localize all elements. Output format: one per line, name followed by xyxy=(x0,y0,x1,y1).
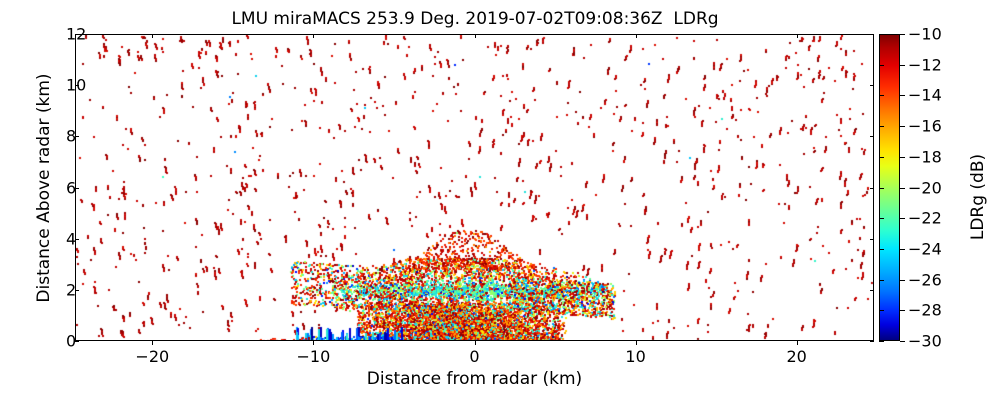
y-tick-mark-right xyxy=(870,136,874,137)
colorbar-tick-mark-inner xyxy=(879,341,884,342)
x-axis-label: Distance from radar (km) xyxy=(75,369,874,389)
colorbar-tick-mark xyxy=(900,34,905,35)
colorbar-tick-mark xyxy=(900,341,905,342)
colorbar-tick-label: −20 xyxy=(908,178,942,197)
figure-canvas: LMU miraMACS 253.9 Deg. 2019-07-02T09:08… xyxy=(0,0,1000,400)
plot-axes-area[interactable] xyxy=(75,34,874,341)
x-tick-label: 10 xyxy=(625,347,645,366)
colorbar-tick-mark xyxy=(900,157,905,158)
colorbar-tick-mark-inner xyxy=(879,126,884,127)
x-tick-label: 0 xyxy=(469,347,479,366)
colorbar-tick-mark xyxy=(900,126,905,127)
y-tick-mark-right xyxy=(870,34,874,35)
colorbar-tick-mark xyxy=(900,280,905,281)
colorbar-tick-mark-inner xyxy=(879,188,884,189)
colorbar-tick-mark-inner xyxy=(879,280,884,281)
colorbar-tick-mark-inner xyxy=(879,310,884,311)
colorbar-tick-mark-inner xyxy=(879,65,884,66)
colorbar-tick-mark-inner xyxy=(879,34,884,35)
colorbar-tick-mark-inner xyxy=(879,218,884,219)
colorbar-tick-label: −28 xyxy=(908,301,942,320)
colorbar-tick-mark xyxy=(900,65,905,66)
colorbar-tick-mark-inner xyxy=(879,249,884,250)
y-tick-mark-right xyxy=(870,290,874,291)
colorbar-tick-label: −14 xyxy=(908,86,942,105)
x-tick-mark xyxy=(636,341,637,345)
x-tick-label: −20 xyxy=(135,347,169,366)
x-tick-mark-top xyxy=(152,34,153,38)
y-tick-mark-right xyxy=(870,85,874,86)
x-tick-mark xyxy=(152,341,153,345)
colorbar-tick-mark xyxy=(900,188,905,189)
colorbar-tick-mark xyxy=(900,218,905,219)
y-axis-label: Distance Above radar (km) xyxy=(34,28,54,348)
x-tick-mark-top xyxy=(636,34,637,38)
colorbar-tick-mark-inner xyxy=(879,157,884,158)
colorbar-tick-label: −30 xyxy=(908,332,942,351)
colorbar-tick-mark xyxy=(900,249,905,250)
x-tick-mark xyxy=(797,341,798,345)
colorbar-tick-label: −24 xyxy=(908,239,942,258)
colorbar-tick-label: −22 xyxy=(908,209,942,228)
x-tick-mark xyxy=(313,341,314,345)
x-tick-mark xyxy=(475,341,476,345)
x-tick-mark-top xyxy=(797,34,798,38)
page-title: LMU miraMACS 253.9 Deg. 2019-07-02T09:08… xyxy=(75,9,875,29)
colorbar-tick-mark-inner xyxy=(879,95,884,96)
colorbar-tick-label: −18 xyxy=(908,147,942,166)
y-tick-mark-right xyxy=(870,188,874,189)
scatter-plot-canvas xyxy=(76,35,874,341)
x-tick-label: 20 xyxy=(786,347,806,366)
colorbar-label: LDRg (dB) xyxy=(968,97,988,297)
x-tick-mark-top xyxy=(313,34,314,38)
colorbar-tick-mark xyxy=(900,310,905,311)
y-tick-mark-right xyxy=(870,341,874,342)
x-tick-mark-top xyxy=(475,34,476,38)
colorbar-tick-label: −10 xyxy=(908,25,942,44)
colorbar-tick-label: −16 xyxy=(908,117,942,136)
colorbar-tick-label: −12 xyxy=(908,55,942,74)
colorbar-tick-label: −26 xyxy=(908,270,942,289)
x-tick-label: −10 xyxy=(297,347,331,366)
y-tick-mark-right xyxy=(870,239,874,240)
colorbar-tick-mark xyxy=(900,95,905,96)
